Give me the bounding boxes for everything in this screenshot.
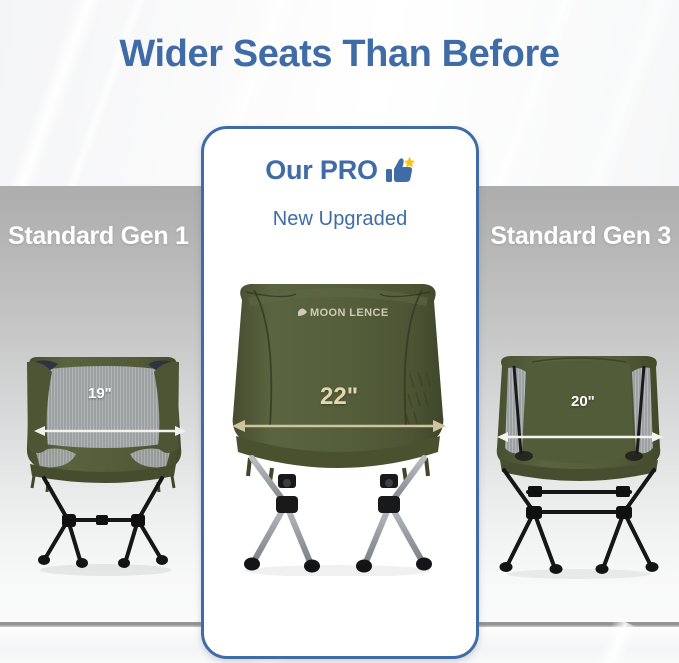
thumbs-up-icon <box>385 156 415 186</box>
left-dimension-arrow <box>34 424 186 438</box>
brand-logo: MOON LENCE <box>298 307 389 319</box>
center-dimension-label: 22" <box>320 383 358 411</box>
right-dimension-arrow <box>497 430 663 444</box>
star-icon <box>404 156 415 167</box>
infographic-canvas: Wider Seats Than Before Standard Gen 1 S… <box>0 0 679 663</box>
standard-gen-3-chair <box>488 352 670 580</box>
svg-text:MOON LENCE: MOON LENCE <box>310 307 389 319</box>
pro-subtitle: New Upgraded <box>204 208 476 231</box>
pro-title: Our PRO <box>265 155 378 186</box>
page-title: Wider Seats Than Before <box>0 33 679 76</box>
right-dimension-label: 20" <box>571 393 595 410</box>
right-panel-label: Standard Gen 3 <box>490 222 671 251</box>
left-dimension-label: 19" <box>88 385 112 402</box>
left-panel-label: Standard Gen 1 <box>8 222 189 251</box>
pro-title-row: Our PRO <box>204 155 476 186</box>
center-dimension-arrow <box>232 418 446 434</box>
